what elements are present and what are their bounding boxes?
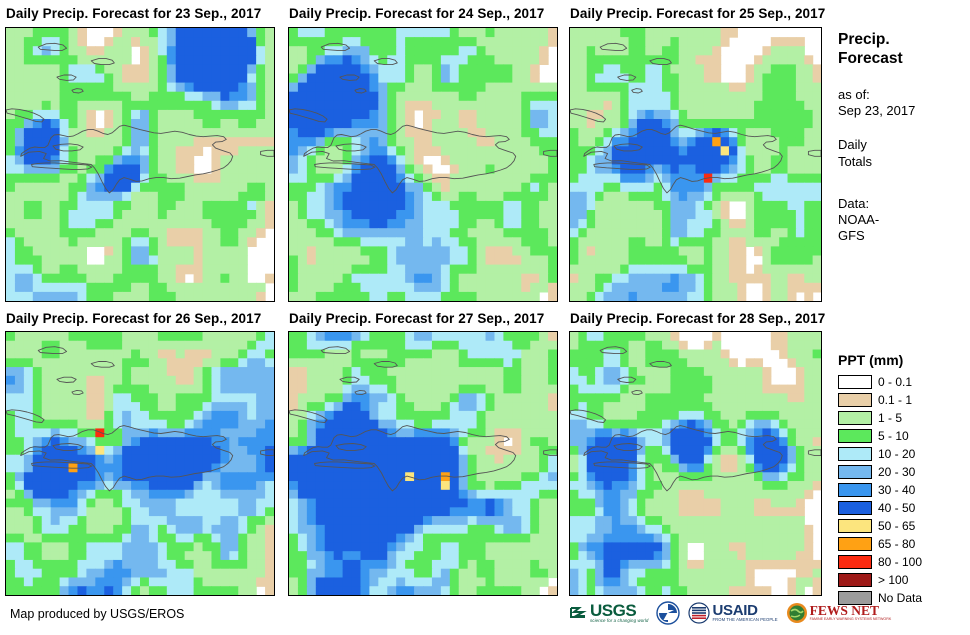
legend-label: 0.1 - 1 bbox=[878, 393, 912, 407]
legend-label: 80 - 100 bbox=[878, 555, 922, 569]
legend-swatch bbox=[838, 483, 872, 497]
info-title: Precip. Forecast bbox=[838, 30, 966, 69]
legend-row: 1 - 5 bbox=[838, 409, 966, 426]
legend-row: 65 - 80 bbox=[838, 535, 966, 552]
info-totals-line1: Daily bbox=[838, 137, 966, 153]
legend-label: 40 - 50 bbox=[878, 501, 915, 515]
legend-label: 5 - 10 bbox=[878, 429, 909, 443]
fews-globe-icon bbox=[786, 602, 808, 624]
legend-row: 0.1 - 1 bbox=[838, 391, 966, 408]
usgs-logo: USGS science for a changing world bbox=[570, 600, 648, 626]
map-panel-28sep[interactable] bbox=[569, 331, 822, 596]
usgs-logo-text: USGS bbox=[590, 602, 648, 619]
legend: PPT (mm) 0 - 0.10.1 - 11 - 55 - 1010 - 2… bbox=[838, 352, 966, 607]
map-panel-23sep[interactable] bbox=[5, 27, 275, 302]
legend-label: 50 - 65 bbox=[878, 519, 915, 533]
legend-swatch bbox=[838, 447, 872, 461]
legend-label: 65 - 80 bbox=[878, 537, 915, 551]
info-data-line1: NOAA- bbox=[838, 212, 966, 228]
legend-swatch bbox=[838, 501, 872, 515]
fews-net-logo: FEWS NET FAMINE EARLY WARNING SYSTEMS NE… bbox=[786, 600, 892, 626]
info-data-source: Data: NOAA- GFS bbox=[838, 196, 966, 245]
panel-title-25sep: Daily Precip. Forecast for 25 Sep., 2017 bbox=[570, 6, 825, 21]
info-totals-line2: Totals bbox=[838, 154, 966, 170]
info-title-line2: Forecast bbox=[838, 49, 966, 68]
info-totals: Daily Totals bbox=[838, 137, 966, 170]
usaid-seal-icon bbox=[688, 602, 710, 624]
legend-rows: 0 - 0.10.1 - 11 - 55 - 1010 - 2020 - 303… bbox=[838, 373, 966, 606]
legend-row: 10 - 20 bbox=[838, 445, 966, 462]
legend-swatch bbox=[838, 429, 872, 443]
map-panel-24sep[interactable] bbox=[288, 27, 558, 302]
legend-row: 80 - 100 bbox=[838, 553, 966, 570]
logo-bar: USGS science for a changing world bbox=[570, 600, 891, 626]
legend-swatch bbox=[838, 555, 872, 569]
legend-swatch bbox=[838, 411, 872, 425]
legend-label: > 100 bbox=[878, 573, 908, 587]
legend-row: 50 - 65 bbox=[838, 517, 966, 534]
usaid-logo-text: USAID bbox=[712, 603, 777, 618]
panel-title-28sep: Daily Precip. Forecast for 28 Sep., 2017 bbox=[570, 311, 825, 326]
legend-label: 1 - 5 bbox=[878, 411, 902, 425]
map-panel-25sep[interactable] bbox=[569, 27, 822, 302]
legend-row: 20 - 30 bbox=[838, 463, 966, 480]
precip-forecast-map: Daily Precip. Forecast for 23 Sep., 2017… bbox=[0, 0, 970, 635]
legend-title: PPT (mm) bbox=[838, 352, 966, 368]
legend-label: 10 - 20 bbox=[878, 447, 915, 461]
panel-title-24sep: Daily Precip. Forecast for 24 Sep., 2017 bbox=[289, 6, 544, 21]
panel-title-27sep: Daily Precip. Forecast for 27 Sep., 2017 bbox=[289, 311, 544, 326]
precip-raster bbox=[570, 28, 821, 301]
noaa-logo bbox=[656, 600, 680, 626]
usaid-logo-subtext: FROM THE AMERICAN PEOPLE bbox=[712, 618, 777, 622]
legend-label: 0 - 0.1 bbox=[878, 375, 912, 389]
legend-swatch bbox=[838, 465, 872, 479]
info-data-line2: GFS bbox=[838, 228, 966, 244]
legend-swatch bbox=[838, 393, 872, 407]
usgs-wave-icon bbox=[570, 604, 590, 622]
panel-title-23sep: Daily Precip. Forecast for 23 Sep., 2017 bbox=[6, 6, 261, 21]
legend-swatch bbox=[838, 573, 872, 587]
legend-label: 30 - 40 bbox=[878, 483, 915, 497]
info-asof-value: Sep 23, 2017 bbox=[838, 103, 966, 119]
legend-swatch bbox=[838, 375, 872, 389]
map-credit: Map produced by USGS/EROS bbox=[10, 607, 184, 621]
precip-raster bbox=[289, 28, 557, 301]
fews-logo-text: FEWS NET bbox=[810, 604, 892, 618]
info-title-line1: Precip. bbox=[838, 30, 966, 49]
legend-row: 40 - 50 bbox=[838, 499, 966, 516]
legend-swatch bbox=[838, 537, 872, 551]
legend-row: 0 - 0.1 bbox=[838, 373, 966, 390]
info-column: Precip. Forecast as of: Sep 23, 2017 Dai… bbox=[838, 30, 966, 245]
legend-row: > 100 bbox=[838, 571, 966, 588]
precip-raster bbox=[289, 332, 557, 595]
precip-raster bbox=[6, 28, 274, 301]
precip-raster bbox=[570, 332, 821, 595]
legend-swatch bbox=[838, 519, 872, 533]
map-panel-27sep[interactable] bbox=[288, 331, 558, 596]
legend-row: 30 - 40 bbox=[838, 481, 966, 498]
map-panel-26sep[interactable] bbox=[5, 331, 275, 596]
info-asof: as of: Sep 23, 2017 bbox=[838, 87, 966, 120]
usaid-logo: USAID FROM THE AMERICAN PEOPLE bbox=[688, 600, 777, 626]
info-data-label: Data: bbox=[838, 196, 966, 212]
legend-row: 5 - 10 bbox=[838, 427, 966, 444]
legend-label: 20 - 30 bbox=[878, 465, 915, 479]
panel-title-26sep: Daily Precip. Forecast for 26 Sep., 2017 bbox=[6, 311, 261, 326]
info-asof-label: as of: bbox=[838, 87, 966, 103]
usgs-logo-subtext: science for a changing world bbox=[590, 619, 648, 623]
fews-logo-subtext: FAMINE EARLY WARNING SYSTEMS NETWORK bbox=[810, 618, 892, 622]
precip-raster bbox=[6, 332, 274, 595]
noaa-seal-icon bbox=[656, 601, 680, 625]
